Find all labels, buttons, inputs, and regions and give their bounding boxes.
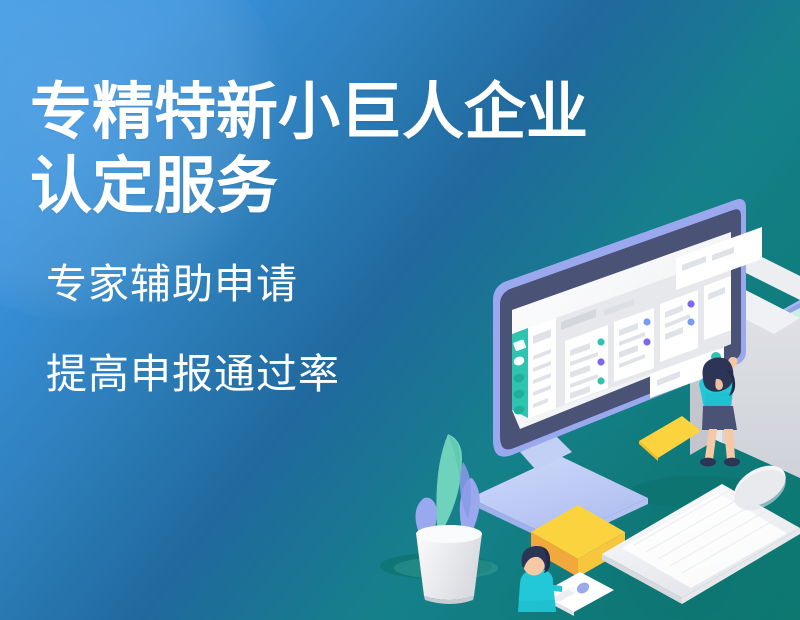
- potted-plant: [394, 434, 498, 604]
- headline-line-2: 认定服务: [30, 150, 460, 224]
- subtitle-line-1: 专家辅助申请: [46, 260, 460, 308]
- subtitle-line-2: 提高申报通过率: [46, 350, 460, 398]
- subtitle-group: 专家辅助申请 提高申报通过率: [30, 260, 460, 398]
- headline-line-1: 专精特新小巨人企业: [30, 76, 460, 150]
- banner-text-block: 专精特新小巨人企业 认定服务 专家辅助申请 提高申报通过率: [30, 76, 460, 398]
- promo-banner: 专精特新小巨人企业 认定服务 专家辅助申请 提高申报通过率: [0, 0, 800, 620]
- kanban-column-4: [704, 276, 731, 340]
